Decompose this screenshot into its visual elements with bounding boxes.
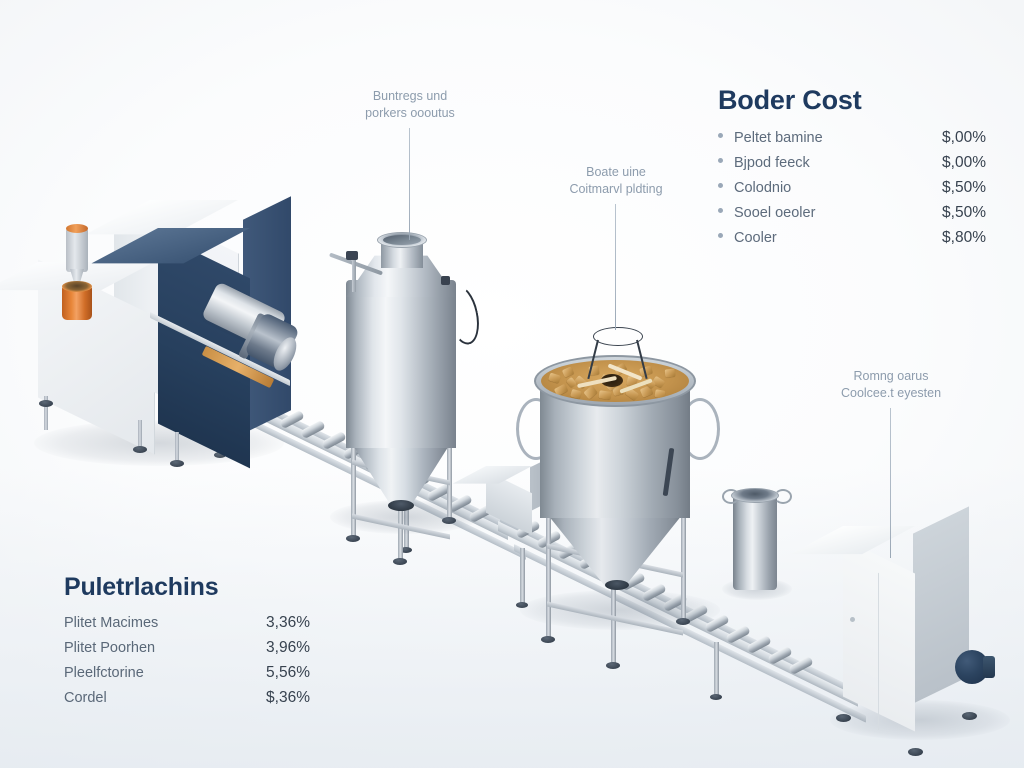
bullet-icon [718,233,723,238]
pellet-vessel-leg [546,500,551,640]
transfer-box-top [453,466,532,484]
pellet-vessel-foot [541,636,555,643]
machines-panel-rows: Plitet Macimes 3,36% Plitet Poorhen 3,96… [64,614,310,714]
bullet-icon [718,208,723,213]
machines-panel: Puletrlachins Plitet Macimes 3,36% Plite… [64,572,310,714]
feed-tube [66,228,88,272]
pellet-vessel-foot [606,662,620,669]
silo-body [346,280,456,448]
silo-foot [346,535,360,542]
cooler-pot-ear-left [722,489,740,504]
cabinet-door-handle [850,617,855,622]
machines-row: Plitet Poorhen 3,96% [64,639,310,664]
extruder-foot [39,400,53,407]
callout-leader-cooling [890,408,891,558]
conveyor-foot [516,602,528,608]
machines-row-value: $,36% [266,689,310,707]
cost-row: Sooel oeoler $,50% [718,204,986,229]
pellet-vessel-leg [681,500,686,622]
conveyor-rail-right-near [514,544,866,723]
cooler-pot-ear-right [774,489,792,504]
cost-row: Colodnio $,50% [718,179,986,204]
machines-row: Pleelfctorine 5,56% [64,664,310,689]
cost-row: Bjpod feeck $,00% [718,154,986,179]
cost-panel-rows: Peltet bamine $,00% Bjpod feeck $,00% Co… [718,129,986,254]
machines-row: Plitet Macimes 3,36% [64,614,310,639]
cost-panel: Boder Cost Peltet bamine $,00% Bjpod fee… [718,84,986,254]
conveyor-leg [520,548,525,604]
cabinet-foot [908,748,923,756]
cost-row-value: $,50% [924,179,986,197]
conveyor-foot [710,694,722,700]
machines-row-value: 3,96% [266,639,310,657]
conveyor-leg [714,642,719,696]
callout-hopper: Buntregs und porkers oooutus [329,88,491,121]
cost-row-label: Peltet bamine [734,130,924,146]
silo-outlet-valve [388,500,414,511]
callout-mixer: Boate uine Coitmarvl pldting [546,164,686,197]
feed-hopper-opening [62,281,92,292]
machines-row-value: 5,56% [266,664,310,682]
cost-row-label: Bjpod feeck [734,155,924,171]
machines-panel-title: Puletrlachins [64,572,310,602]
machines-row-label: Pleelfctorine [64,665,144,681]
cost-row: Peltet bamine $,00% [718,129,986,154]
cost-row-label: Cooler [734,230,924,246]
machines-row: Cordel $,36% [64,689,310,714]
machines-row-value: 3,36% [266,614,310,632]
callout-leader-mixer [615,204,616,330]
callout-leader-hopper [409,128,410,240]
silo-foot [393,558,407,565]
pellet-vessel-outlet [605,580,629,590]
extruder-foot [133,446,147,453]
bullet-icon [718,158,723,163]
silo-foot [442,517,456,524]
cabinet-foot [836,714,851,722]
bullet-icon [718,133,723,138]
cooler-pot-body [733,494,777,590]
silo-bracket-clamp [346,251,358,260]
pellet-fill [541,360,689,402]
cabinet-motor-hub [983,656,995,678]
cost-row-label: Colodnio [734,180,924,196]
machines-row-label: Cordel [64,690,107,706]
machines-row-label: Plitet Poorhen [64,640,155,656]
cost-row-value: $,50% [924,204,986,222]
bullet-icon [718,183,723,188]
cost-row-label: Sooel oeoler [734,205,924,221]
feed-tube-cap [66,224,88,233]
vessel-lifting-hoop [593,327,643,346]
silo-fitting [441,276,450,285]
cost-row-value: $,80% [924,229,986,247]
cabinet-door-seam [878,573,879,730]
silo-bracket-post [352,256,356,292]
cost-row-value: $,00% [924,154,986,172]
machines-row-label: Plitet Macimes [64,615,158,631]
extruder-foot [170,460,184,467]
cabinet-foot [962,712,977,720]
callout-cooling: Romng oarus Coolcee.t eyesten [818,368,964,401]
cost-row: Cooler $,80% [718,229,986,254]
illustration-scene: Buntregs und porkers oooutus Boate uine … [0,0,1024,768]
cost-panel-title: Boder Cost [718,84,986,116]
cabinet-top [790,526,915,554]
pellet-vessel-foot [676,618,690,625]
cost-row-value: $,00% [924,129,986,147]
silo-opening [383,235,421,245]
